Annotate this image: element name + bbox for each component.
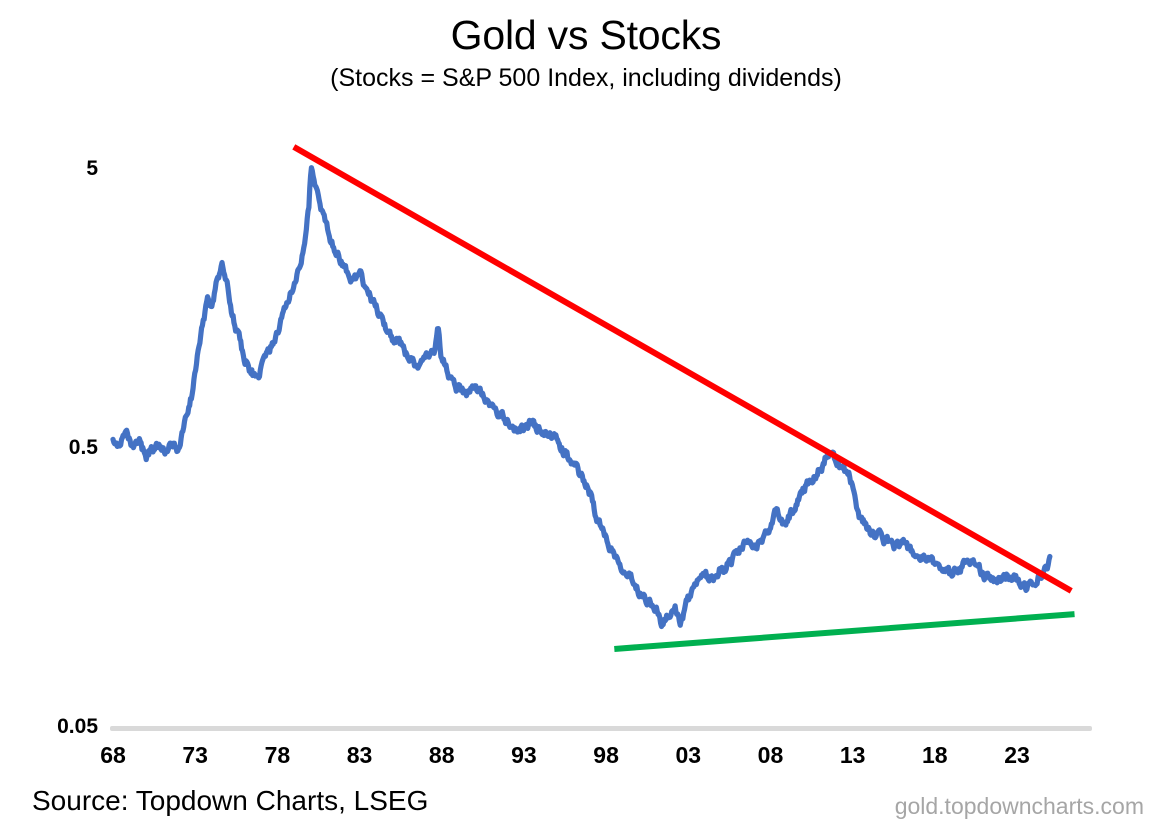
y-axis-tick-5: 5: [10, 157, 98, 181]
series-line-0: [113, 168, 1050, 627]
y-axis-tick-0-05: 0.05: [10, 715, 98, 739]
plot-area: [0, 0, 1172, 830]
x-axis-tick-83: 83: [330, 742, 390, 769]
x-axis-tick-68: 68: [83, 742, 143, 769]
x-axis-tick-13: 13: [823, 742, 883, 769]
y-axis-tick-0-5: 0.5: [10, 436, 98, 460]
x-axis-tick-03: 03: [658, 742, 718, 769]
watermark-url: gold.topdowncharts.com: [895, 793, 1144, 820]
x-axis-tick-78: 78: [247, 742, 307, 769]
x-axis-line: [110, 726, 1092, 731]
x-axis-tick-93: 93: [494, 742, 554, 769]
x-axis-tick-08: 08: [740, 742, 800, 769]
upper-resistance-trendline: [294, 147, 1071, 591]
chart-container: Gold vs Stocks (Stocks = S&P 500 Index, …: [0, 0, 1172, 830]
source-note: Source: Topdown Charts, LSEG: [32, 785, 428, 817]
x-axis-tick-98: 98: [576, 742, 636, 769]
x-axis-tick-18: 18: [905, 742, 965, 769]
x-axis-tick-23: 23: [987, 742, 1047, 769]
series-gold-vs-stocks-line: [113, 168, 1050, 627]
x-axis-tick-73: 73: [165, 742, 225, 769]
x-axis-tick-88: 88: [412, 742, 472, 769]
